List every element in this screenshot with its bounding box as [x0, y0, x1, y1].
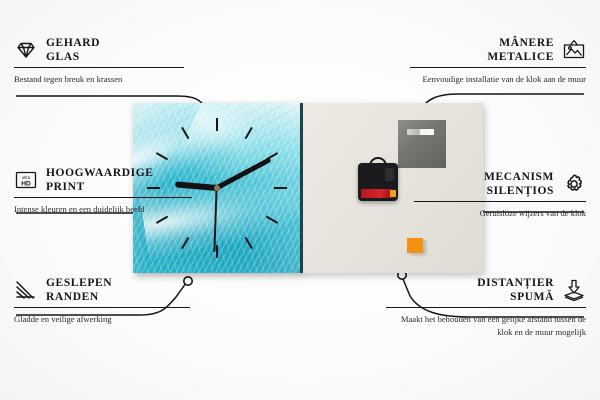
callout-title: HOOGWAARDIGEPRINT — [46, 166, 154, 194]
battery — [361, 189, 393, 198]
picture-frame-icon — [562, 38, 586, 62]
feature-callout-print-quality: ultra HD HOOGWAARDIGEPRINT Intense kleur… — [14, 166, 192, 216]
callout-rule — [410, 67, 586, 68]
beveled-edges-icon — [14, 278, 38, 302]
ultra-hd-icon: ultra HD — [14, 168, 38, 192]
callout-rule — [414, 201, 586, 202]
callout-rule — [386, 307, 586, 308]
foam-spacer — [407, 238, 423, 253]
callout-title: DISTANȚIERSPUMĂ — [477, 276, 554, 304]
callout-description: Intense kleuren en een duidelijk beeld — [14, 203, 192, 215]
movement-dial — [385, 168, 394, 181]
feature-callout-beveled-edges: GESLEPENRANDEN Gladde en veilige afwerki… — [14, 276, 190, 326]
callout-description: Bestand tegen breuk en krassen — [14, 73, 184, 85]
callout-title: GEHARDGLAS — [46, 36, 100, 64]
metal-hanger — [398, 120, 446, 168]
callout-rule — [14, 307, 190, 308]
diamond-icon — [14, 38, 38, 62]
feature-callout-tempered-glass: GEHARDGLAS Bestand tegen breuk en krasse… — [14, 36, 184, 86]
callout-description: Eenvoudige installatie van de klok aan d… — [410, 73, 586, 85]
callout-description: Gladde en veilige afwerking — [14, 313, 190, 325]
callout-header: GEHARDGLAS — [14, 36, 184, 64]
feature-callout-foam-spacer: DISTANȚIERSPUMĂ Maakt het behouden van e… — [386, 276, 586, 338]
battery-terminal — [390, 190, 396, 197]
feature-callout-metal-handles: MÂNEREMETALICE Eenvoudige installatie va… — [410, 36, 586, 86]
callout-rule — [14, 67, 184, 68]
feature-callout-silent-mechanism: MECANISMSILENȚIOS Geruisloze wijzers van… — [414, 170, 586, 220]
callout-title: MECANISMSILENȚIOS — [484, 170, 554, 198]
callout-description: Maakt het behouden van een gelijke afsta… — [386, 313, 586, 337]
callout-rule — [14, 197, 192, 198]
clock-movement — [358, 163, 398, 201]
svg-text:HD: HD — [21, 180, 31, 187]
hand-cap — [214, 185, 220, 191]
callout-description: Geruisloze wijzers van de klok — [414, 207, 586, 219]
infographic-canvas: GEHARDGLAS Bestand tegen breuk en krasse… — [0, 0, 600, 400]
spacer-arrow-icon — [562, 278, 586, 302]
callout-header: DISTANȚIERSPUMĂ — [386, 276, 586, 304]
callout-header: ultra HD HOOGWAARDIGEPRINT — [14, 166, 192, 194]
callout-header: GESLEPENRANDEN — [14, 276, 190, 304]
hanger-slot — [407, 129, 434, 135]
gear-icon — [562, 172, 586, 196]
callout-header: MÂNEREMETALICE — [410, 36, 586, 64]
movement-loop — [369, 157, 387, 167]
hour-tick — [216, 118, 218, 188]
hour-tick — [217, 187, 287, 189]
callout-header: MECANISMSILENȚIOS — [414, 170, 586, 198]
callout-title: MÂNEREMETALICE — [487, 36, 554, 64]
callout-title: GESLEPENRANDEN — [46, 276, 112, 304]
